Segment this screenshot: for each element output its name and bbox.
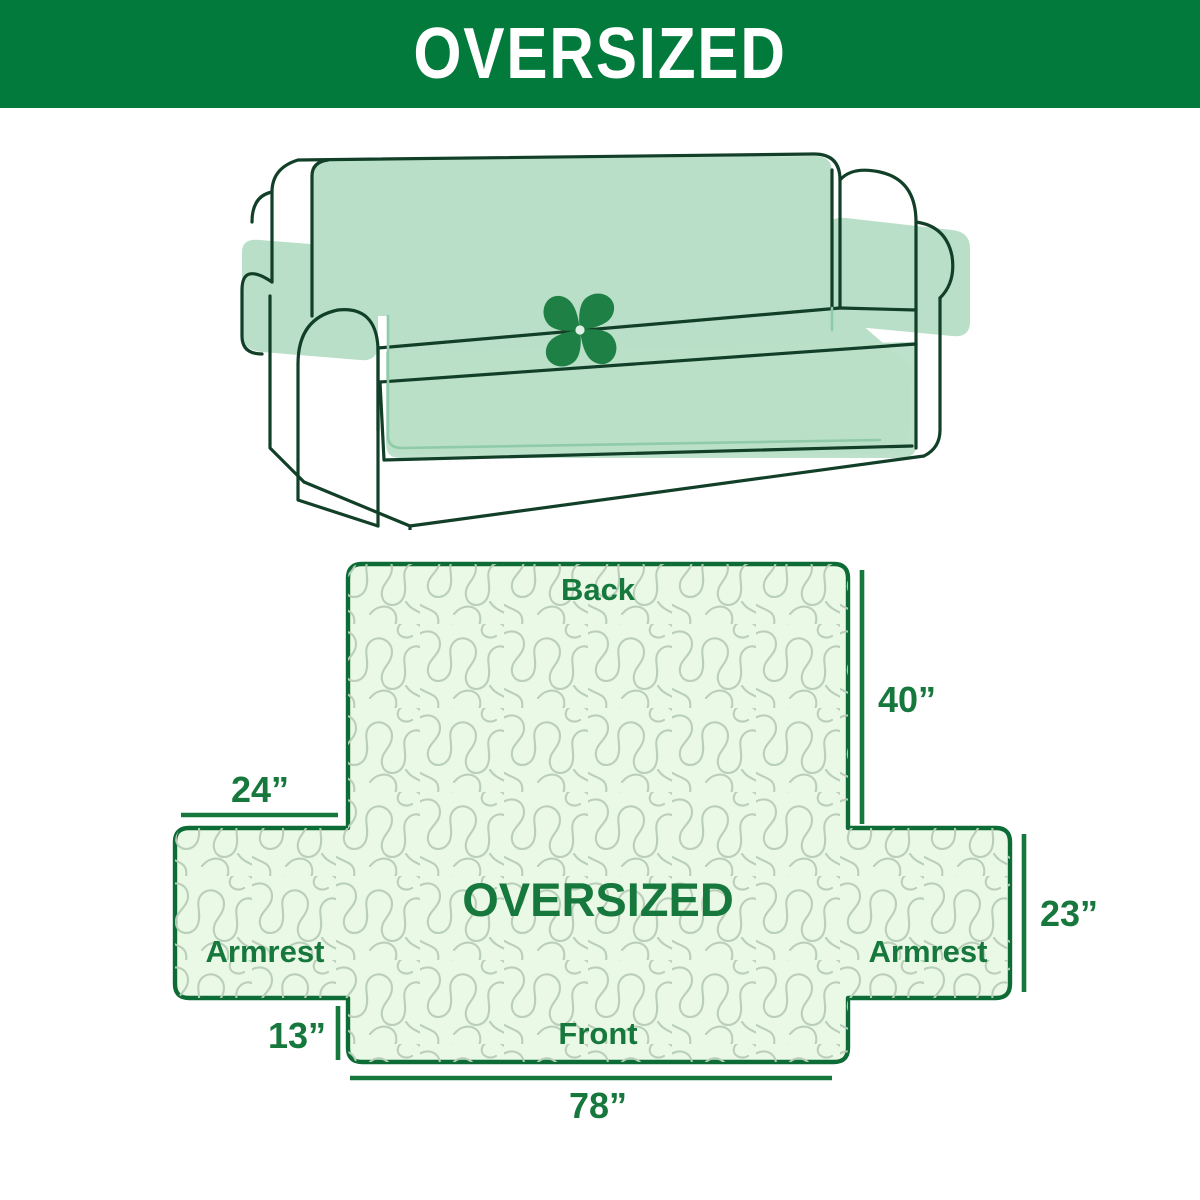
panel-label-back: Back (561, 572, 636, 607)
panel-label-armrest-left: Armrest (206, 934, 325, 969)
panel-label-armrest-right: Armrest (869, 934, 988, 969)
dimension-label-23: 23” (1040, 893, 1098, 934)
header-banner: OVERSIZED (0, 0, 1200, 108)
dimension-label-40: 40” (878, 679, 936, 720)
panel-label-front: Front (558, 1016, 637, 1051)
dimension-diagram-svg: Back Armrest Armrest Front OVERSIZED 40”… (0, 540, 1200, 1140)
slipcover-dimension-diagram: Back Armrest Armrest Front OVERSIZED 40”… (0, 540, 1200, 1140)
dimension-label-78: 78” (569, 1085, 627, 1126)
sofa-illustration (240, 130, 980, 530)
dimension-label-13: 13” (268, 1015, 326, 1056)
banner-title: OVERSIZED (413, 18, 786, 90)
sofa-illustration-svg (240, 130, 980, 530)
center-label-oversized: OVERSIZED (462, 873, 734, 926)
dimension-label-24: 24” (231, 769, 289, 810)
product-size-chart-page: OVERSIZED (0, 0, 1200, 1200)
